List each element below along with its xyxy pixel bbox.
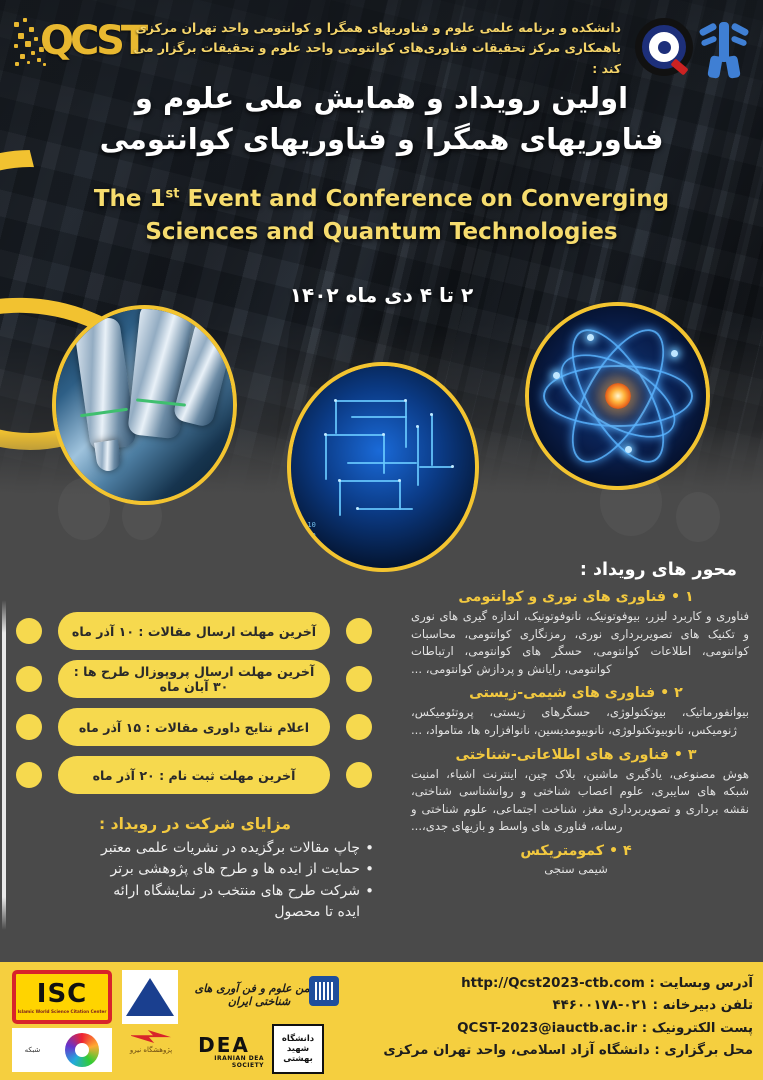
lightning-bolt-icon (131, 1030, 171, 1043)
quantum-q-logo (635, 18, 693, 76)
deadline-row: اعلام نتایج داوری مقالات : ۱۵ آذر ماه (14, 708, 374, 746)
topic-title: ۳ • فناوری های اطلاعاتی-شناختی (403, 747, 749, 763)
topic-title: ۲ • فناوری های شیمی-زیستی (403, 685, 749, 701)
phone-row: تلفن دبیرخانه : ۰۲۱-۴۴۶۰۰۱۷۸ (343, 995, 753, 1017)
email-label: پست الکترونیک : (642, 1021, 753, 1036)
sponsor-logos: ISC Islamic World Science Citation Cente… (4, 966, 340, 1076)
venue-label: محل برگزاری : (654, 1043, 753, 1058)
email-row: پست الکترونیک : QCST-2023@iauctb.ac.ir (343, 1018, 753, 1040)
atom-photo (525, 302, 710, 490)
english-title-line-1: The 1st Event and Conference on Convergi… (0, 183, 763, 216)
deadline-row: آخرین مهلت ارسال مقالات : ۱۰ آذر ماه (14, 612, 374, 650)
english-title: The 1st Event and Conference on Convergi… (0, 183, 763, 249)
binary-digits: 0110010010011001 (299, 520, 385, 562)
shahid-beheshti-university-logo: دانشگاه شهید بهشتی (272, 1024, 324, 1074)
benefits-section: مزایای شرکت در رویداد : چاپ مقالات برگزی… (14, 815, 376, 923)
deadlines-section: آخرین مهلت ارسال مقالات : ۱۰ آذر ماه آخر… (14, 612, 374, 804)
topic-item: ۱ • فناوری های نوری و کوانتومی فناوری و … (403, 589, 755, 678)
deadline-pill: آخرین مهلت ثبت نام : ۲۰ آذر ماه (58, 756, 330, 794)
rainbow-circle-icon (65, 1033, 99, 1067)
qcst-logo: QCST (12, 12, 137, 74)
topic-item: ۴ • کمومتریکس شیمی سنجی (403, 843, 755, 876)
topic-title-text: فناوری های نوری و کوانتومی (458, 589, 666, 605)
partner-logos-top-right (635, 8, 753, 88)
microscope-photo (52, 305, 237, 505)
website-label: آدرس وبسایت : (649, 976, 753, 991)
atom-image (529, 306, 706, 486)
ordinal-suffix: st (166, 186, 180, 201)
topic-item: ۲ • فناوری های شیمی-زیستی بیوانفورماتیک،… (403, 685, 755, 739)
website-value[interactable]: http://Qcst2023-ctb.com (461, 976, 645, 991)
english-title-line-2: Sciences and Quantum Technologies (0, 216, 763, 249)
book-pages-icon (315, 982, 333, 1000)
brain-circuit-image: 0110010010011001 (291, 366, 475, 568)
niroo-logo-text: پژوهشگاه نیرو (130, 1046, 172, 1054)
deadline-pill: اعلام نتایج داوری مقالات : ۱۵ آذر ماه (58, 708, 330, 746)
persian-title: اولین رویداد و همایش ملی علوم و فناوریها… (0, 78, 763, 160)
conference-poster: QCST دانشکده و برنامه علمی علوم و فناوری… (0, 0, 763, 1080)
organizer-line-2: باهمکاری مرکز تحقیقات فناوری‌های کوانتوم… (129, 38, 621, 79)
deadline-row: آخرین مهلت ثبت نام : ۲۰ آذر ماه (14, 756, 374, 794)
microscope-image (56, 309, 233, 501)
topics-heading: محور های رویداد : (403, 560, 755, 580)
persian-title-line-1: اولین رویداد و همایش ملی علوم و (0, 78, 763, 119)
islamic-azad-university-logo (697, 12, 751, 86)
topic-body: بیوانفورماتیک، بیوتکنولوژی، حسگرهای زیست… (403, 704, 749, 739)
isc-logo-subtext: Islamic World Science Citation Center (18, 1009, 107, 1014)
persian-title-line-2: فناوریهای همگرا و فناوریهای کوانتومی (0, 119, 763, 160)
pill-dot-left (16, 618, 42, 644)
secondary-sponsor-logo: شبکه (12, 1028, 112, 1072)
english-title-rest: Event and Conference on Converging (180, 186, 670, 212)
topic-subtitle: شیمی سنجی (403, 862, 749, 876)
deadline-pill: آخرین مهلت ارسال مقالات : ۱۰ آذر ماه (58, 612, 330, 650)
email-value[interactable]: QCST-2023@iauctb.ac.ir (457, 1021, 637, 1036)
isc-logo: ISC Islamic World Science Citation Cente… (12, 970, 112, 1024)
triangle-icon (126, 978, 174, 1016)
topic-title: ۴ • کمومتریکس (403, 843, 749, 859)
niroo-research-institute-logo: پژوهشگاه نیرو (120, 1030, 182, 1074)
digital-brain-photo: 0110010010011001 (287, 362, 479, 572)
isc-logo-text: ISC (37, 981, 87, 1007)
dea-logo-text: DEA (198, 1035, 250, 1055)
benefit-item-continuation: ایده تا محصول (14, 902, 376, 923)
pill-dot-right (346, 714, 372, 740)
benefit-item: حمایت از ایده ها و طرح های پژوهشی برتر (14, 859, 376, 880)
sponsor-script-mark: شبکه (25, 1046, 41, 1054)
benefit-item: چاپ مقالات برگزیده در نشریات علمی معتبر (14, 838, 376, 859)
benefit-item: شرکت طرح های منتخب در نمایشگاه ارائه (14, 881, 376, 902)
topic-item: ۳ • فناوری های اطلاعاتی-شناختی هوش مصنوع… (403, 747, 755, 836)
venue-row: محل برگزاری : دانشگاه آزاد اسلامی، واحد … (343, 1040, 753, 1062)
footer-bar: ISC Islamic World Science Citation Cente… (0, 962, 763, 1080)
topic-title-text: فناوری های شیمی-زیستی (469, 685, 655, 701)
decorative-ghost-circle (676, 492, 720, 542)
organizer-line-1: دانشکده و برنامه علمی علوم و فناوریهای ه… (129, 18, 621, 38)
dea-society-logo: DEA IRANIAN DEA SOCIETY (184, 1030, 264, 1074)
benefits-heading: مزایای شرکت در رویداد : (14, 815, 376, 833)
pill-dot-left (16, 714, 42, 740)
english-title-prefix: The 1 (94, 186, 166, 212)
nucleus-icon (605, 383, 631, 409)
dea-logo-subtext: IRANIAN DEA SOCIETY (184, 1055, 264, 1069)
topic-number: ۴ (623, 843, 632, 859)
pill-dot-right (346, 762, 372, 788)
contact-info: آدرس وبسایت : http://Qcst2023-ctb.com تل… (343, 973, 753, 1062)
topic-number: ۲ (674, 685, 683, 701)
pill-dot-right (346, 666, 372, 692)
topic-body: هوش مصنوعی، یادگیری ماشین، بلاک چین، این… (403, 766, 749, 836)
topic-title-text: کمومتریکس (520, 843, 604, 859)
organizer-text: دانشکده و برنامه علمی علوم و فناوریهای ه… (129, 18, 621, 79)
venue-value: دانشگاه آزاد اسلامی، واحد تهران مرکزی (383, 1043, 649, 1058)
website-row: آدرس وبسایت : http://Qcst2023-ctb.com (343, 973, 753, 995)
pill-dot-left (16, 762, 42, 788)
website-icon (309, 976, 339, 1006)
benefits-list: چاپ مقالات برگزیده در نشریات علمی معتبر … (14, 838, 376, 923)
topics-section: محور های رویداد : ۱ • فناوری های نوری و … (403, 560, 755, 883)
topic-number: ۳ (688, 747, 697, 763)
deadline-pill: آخرین مهلت ارسال پروپوزال طرح ها : ۳۰ آب… (58, 660, 330, 698)
deadline-row: آخرین مهلت ارسال پروپوزال طرح ها : ۳۰ آب… (14, 660, 374, 698)
topic-body: فناوری و کاربرد لیزر، بیوفوتونیک، نانوفو… (403, 608, 749, 678)
topic-title: ۱ • فناوری های نوری و کوانتومی (403, 589, 749, 605)
phone-label: تلفن دبیرخانه : (653, 998, 753, 1013)
pill-dot-right (346, 618, 372, 644)
column-divider (2, 600, 6, 930)
phone-value: ۰۲۱-۴۴۶۰۰۱۷۸ (552, 998, 647, 1013)
topic-number: ۱ (685, 589, 694, 605)
q-tail-icon (670, 58, 688, 75)
cognitive-society-mark (122, 970, 178, 1024)
event-date: ۲ تا ۴ دی ماه ۱۴۰۲ (0, 283, 763, 307)
pill-dot-left (16, 666, 42, 692)
topic-title-text: فناوری های اطلاعاتی-شناختی (455, 747, 668, 763)
